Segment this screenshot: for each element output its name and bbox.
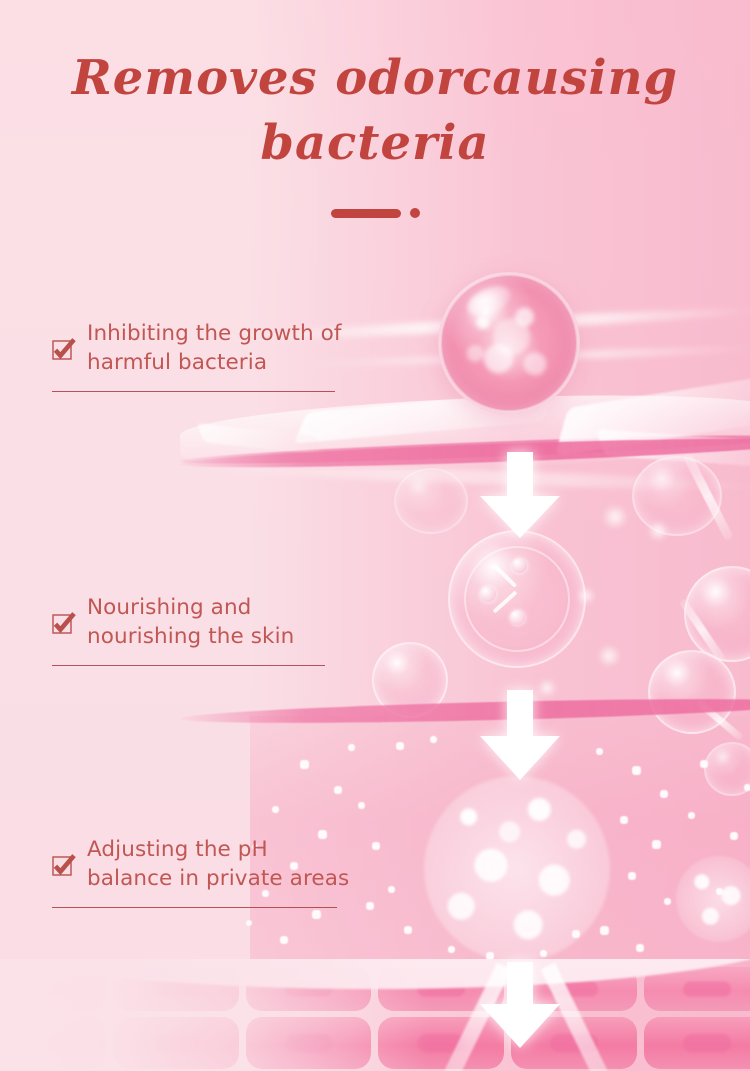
checkbox-checked-icon[interactable] <box>52 611 75 634</box>
feature-item-inhibiting-growth: Inhibiting the growth of harmful bacteri… <box>52 320 352 392</box>
feature-row: Inhibiting the growth of harmful bacteri… <box>52 320 352 377</box>
feature-label: Nourishing and nourishing the skin <box>87 594 352 651</box>
feature-row: Nourishing and nourishing the skin <box>52 594 352 651</box>
title-line-2: bacteria <box>0 111 750 176</box>
feature-item-ph-balance: Adjusting the pH balance in private area… <box>52 836 352 908</box>
poster-content: Removes odorcausing bacteria Inhibiting … <box>0 0 750 1071</box>
divider-dot-icon <box>410 208 420 218</box>
feature-underline <box>52 665 325 666</box>
feature-label: Adjusting the pH balance in private area… <box>87 836 352 893</box>
feature-row: Adjusting the pH balance in private area… <box>52 836 352 893</box>
title-line-1: Removes odorcausing <box>0 46 750 111</box>
title-divider <box>0 206 750 220</box>
divider-bar-icon <box>331 209 401 218</box>
feature-label: Inhibiting the growth of harmful bacteri… <box>87 320 352 377</box>
feature-underline <box>52 907 337 908</box>
checkbox-checked-icon[interactable] <box>52 337 75 360</box>
product-feature-poster: Removes odorcausing bacteria Inhibiting … <box>0 0 750 1071</box>
feature-underline <box>52 391 335 392</box>
page-title: Removes odorcausing bacteria <box>0 46 750 177</box>
checkbox-checked-icon[interactable] <box>52 853 75 876</box>
feature-item-nourishing-skin: Nourishing and nourishing the skin <box>52 594 352 666</box>
